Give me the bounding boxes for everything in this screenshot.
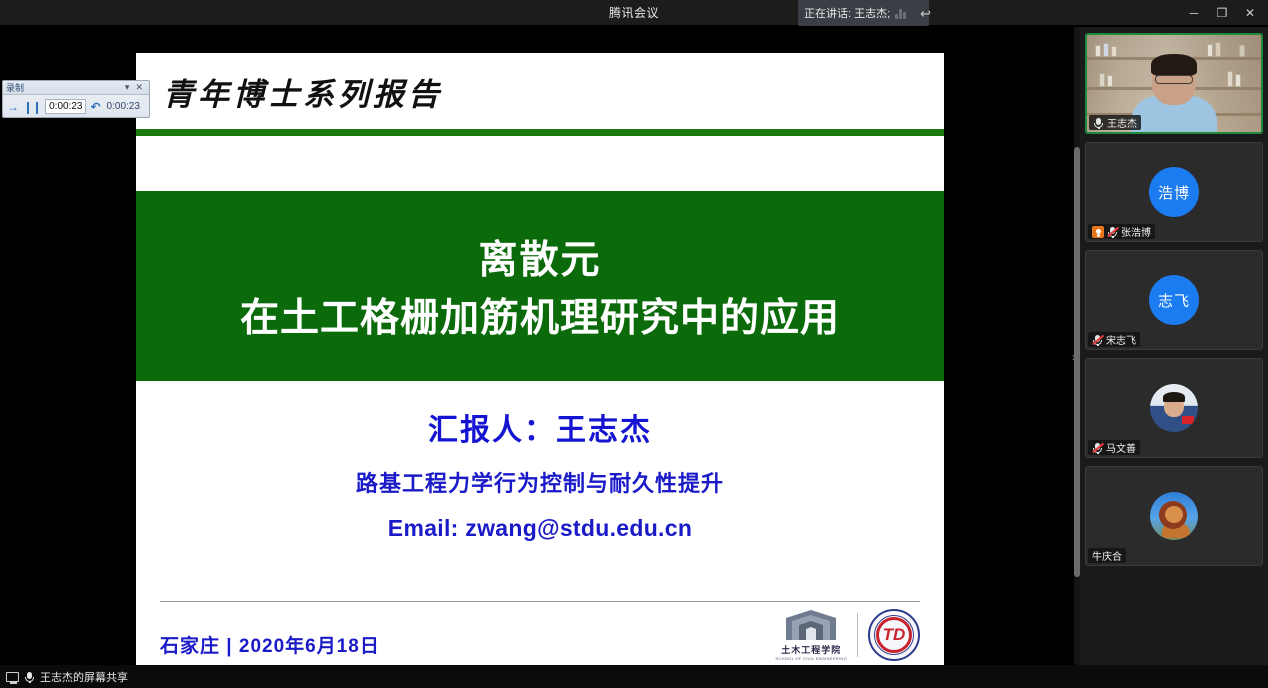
powerpoint-recording-toolbar[interactable]: 录制 ▾ ✕ → ❙❙ 0:00:23 ↶ 0:00:23	[2, 80, 150, 118]
participant-name-label: 牛庆合	[1088, 548, 1126, 563]
slide-affiliation: 路基工程力学行为控制与耐久性提升	[356, 466, 724, 498]
slide-presenter: 汇报人：王志杰	[428, 405, 652, 449]
presentation-slide: 青年博士系列报告 离散元 在土工格栅加筋机理研究中的应用 汇报人：王志杰 路基工…	[136, 53, 944, 688]
logo-divider	[857, 613, 858, 657]
restore-button[interactable]: ❐	[1208, 0, 1236, 26]
flag-icon	[1182, 416, 1194, 424]
participant-tile[interactable]: 浩博 张浩博	[1085, 142, 1263, 242]
university-seal-logo: TD	[868, 609, 920, 661]
slide-spacer	[136, 136, 944, 191]
mic-muted-icon	[1092, 334, 1103, 346]
chevron-down-icon[interactable]: ▾	[122, 82, 133, 93]
avatar: 志飞	[1149, 275, 1199, 325]
active-speaker-label: 正在讲话: 王志杰;	[804, 5, 890, 21]
participant-name-label: 宋志飞	[1088, 332, 1140, 347]
window-titlebar: 腾讯会议	[0, 0, 1268, 26]
participant-name: 牛庆合	[1092, 548, 1122, 563]
civil-logo-name: 土木工程学院	[781, 643, 841, 656]
slide-footer-place-date: 石家庄 | 2020年6月18日	[160, 631, 380, 658]
avatar	[1150, 384, 1198, 432]
slide-body-block: 汇报人：王志杰 路基工程力学行为控制与耐久性提升 Email: zwang@st…	[136, 381, 944, 593]
person-hair	[1151, 54, 1197, 76]
mic-muted-icon	[1092, 442, 1103, 454]
close-icon[interactable]: ✕	[132, 82, 146, 93]
pause-icon[interactable]: ❙❙	[23, 100, 41, 114]
slide-title-line1: 离散元	[478, 229, 601, 285]
slide-header-title: 青年博士系列报告	[163, 69, 443, 114]
participant-tile[interactable]: 马文善	[1085, 358, 1263, 458]
avatar	[1150, 492, 1198, 540]
participant-name: 马文善	[1106, 440, 1136, 455]
active-speaker-indicator[interactable]: 正在讲话: 王志杰; ↩	[798, 0, 929, 26]
host-badge-icon	[1092, 226, 1104, 238]
recording-toolbar-title: 录制	[6, 81, 122, 94]
green-divider-rule	[136, 129, 944, 136]
slide-header: 青年博士系列报告	[136, 53, 944, 129]
participant-name-label: 王志杰	[1089, 115, 1141, 130]
mic-muted-icon	[1107, 226, 1118, 238]
participant-tile[interactable]: 牛庆合	[1085, 466, 1263, 566]
monitor-icon	[6, 672, 19, 682]
slide-logos: 土木工程学院 SCHOOL OF CIVIL ENGINEERING TD	[775, 608, 920, 661]
participant-name-label: 马文善	[1088, 440, 1140, 455]
participant-name: 宋志飞	[1106, 332, 1136, 347]
avatar: 浩博	[1149, 167, 1199, 217]
back-arrow-icon[interactable]: ↩	[920, 7, 931, 20]
slide-title-block: 离散元 在土工格栅加筋机理研究中的应用	[136, 191, 944, 381]
slide-email: Email: zwang@stdu.edu.cn	[388, 515, 692, 542]
participant-sidebar: 王志杰 浩博 张浩博 志飞 宋志飞	[1080, 27, 1268, 665]
glasses-icon	[1155, 75, 1193, 84]
mic-icon	[1093, 117, 1104, 129]
screen-share-statusbar: 王志杰的屏幕共享	[0, 665, 1268, 688]
participant-name-label: 张浩博	[1088, 224, 1155, 239]
audio-wave-icon	[895, 7, 906, 19]
minimize-button[interactable]: ─	[1180, 0, 1208, 26]
participant-name: 王志杰	[1107, 115, 1137, 130]
seal-ring	[874, 615, 914, 655]
undo-icon[interactable]: ↶	[90, 100, 100, 114]
shared-screen-area: 青年博士系列报告 离散元 在土工格栅加筋机理研究中的应用 汇报人：王志杰 路基工…	[0, 27, 1079, 665]
app-title: 腾讯会议	[609, 4, 659, 21]
lion-face	[1165, 506, 1183, 523]
civil-logo-subtitle: SCHOOL OF CIVIL ENGINEERING	[775, 656, 847, 661]
civil-engineering-logo: 土木工程学院 SCHOOL OF CIVIL ENGINEERING	[775, 608, 847, 661]
slide-elapsed-time: 0:00:23	[45, 99, 86, 114]
total-elapsed-time: 0:00:23	[105, 101, 140, 112]
screen-share-label: 王志杰的屏幕共享	[40, 669, 128, 685]
participant-tile[interactable]: 王志杰	[1085, 33, 1263, 134]
tencent-meeting-window: 腾讯会议 正在讲话: 王志杰; ↩ ─ ❐ ✕ 青年博士系列报告 离散元 在土工…	[0, 0, 1268, 688]
avatar-hair	[1163, 392, 1185, 402]
next-slide-icon[interactable]: →	[7, 100, 19, 114]
participant-name: 张浩博	[1121, 224, 1151, 239]
participant-tile[interactable]: 志飞 宋志飞	[1085, 250, 1263, 350]
slide-title-line2: 在土工格栅加筋机理研究中的应用	[240, 287, 840, 343]
tunnel-icon	[784, 608, 838, 642]
mic-icon	[24, 671, 35, 683]
recording-toolbar-body: → ❙❙ 0:00:23 ↶ 0:00:23	[3, 95, 149, 118]
close-button[interactable]: ✕	[1236, 0, 1264, 26]
window-controls: ─ ❐ ✕	[1180, 0, 1264, 26]
recording-toolbar-caption: 录制 ▾ ✕	[3, 81, 149, 95]
